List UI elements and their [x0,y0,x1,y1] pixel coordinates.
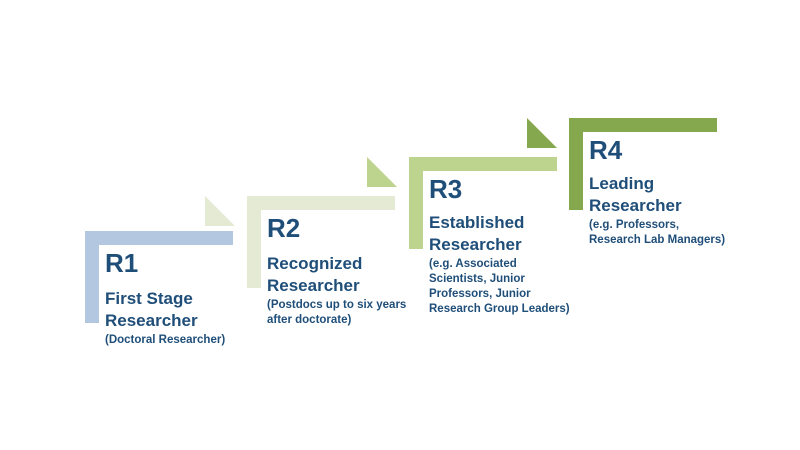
step-r4-title-line1: Leading [589,173,654,195]
step-r3-note-line3: Professors, Junior [429,287,531,302]
step-r4-connector-triangle [527,118,557,148]
step-r3-note-line4: Research Group Leaders) [429,302,570,317]
step-r2-title-line2: Researcher [267,275,360,297]
step-r2-connector-triangle [205,196,235,226]
step-r1-title-line2: Researcher [105,310,198,332]
step-r2-title-line1: Recognized [267,253,362,275]
step-r4-code: R4 [589,137,622,163]
step-r1-top-bar [85,231,233,245]
step-r1-code: R1 [105,250,138,276]
step-r2-left-bar [247,210,261,288]
step-r2-top-bar [247,196,395,210]
step-r4-top-bar [569,118,717,132]
step-r1-note-line1: (Doctoral Researcher) [105,333,225,348]
step-r2-note-line2: after doctorate) [267,313,351,328]
step-r4-note-line2: Research Lab Managers) [589,233,725,248]
step-r3-connector-triangle [367,157,397,187]
step-r1-title-line1: First Stage [105,288,193,310]
step-r4-left-bar [569,132,583,210]
step-r3-top-bar [409,157,557,171]
step-r3-code: R3 [429,176,462,202]
step-r3-title-line1: Established [429,212,524,234]
career-stages-diagram: R1 First Stage Researcher (Doctoral Rese… [0,0,800,450]
step-r3-left-bar [409,171,423,249]
step-r4-title-line2: Researcher [589,195,682,217]
step-r2-note-line1: (Postdocs up to six years [267,298,406,313]
step-r3-note-line1: (e.g. Associated [429,257,517,272]
step-r2-code: R2 [267,215,300,241]
step-r4-note-line1: (e.g. Professors, [589,218,679,233]
step-r1-left-bar [85,245,99,323]
step-r3-note-line2: Scientists, Junior [429,272,525,287]
step-r3-title-line2: Researcher [429,234,522,256]
